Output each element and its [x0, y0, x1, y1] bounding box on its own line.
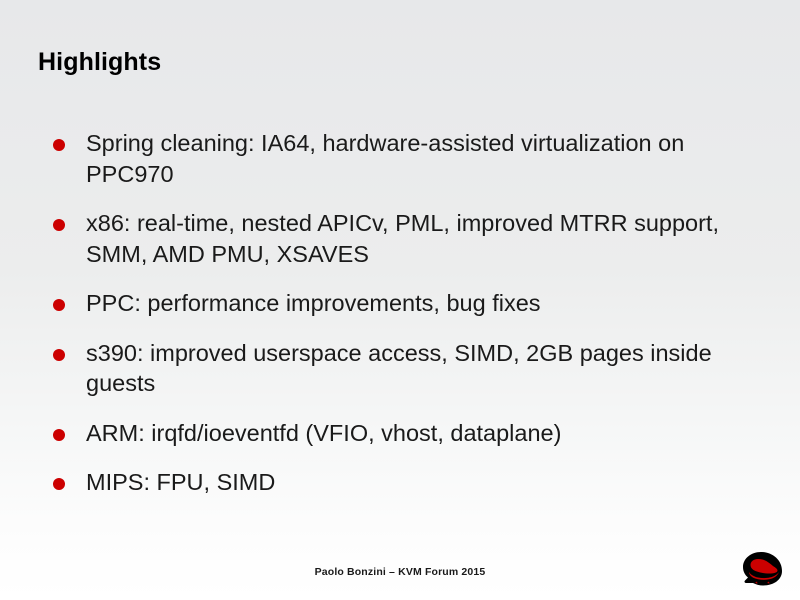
list-item: Spring cleaning: IA64, hardware-assisted…: [40, 128, 740, 189]
list-item: PPC: performance improvements, bug fixes: [40, 288, 740, 319]
list-item-label: x86: real-time, nested APICv, PML, impro…: [86, 208, 740, 269]
red-hat-shadowman-logo: [738, 550, 786, 592]
bullet-marker-icon: [53, 478, 65, 490]
list-item: x86: real-time, nested APICv, PML, impro…: [40, 208, 740, 269]
list-item: MIPS: FPU, SIMD: [40, 467, 740, 498]
list-item: s390: improved userspace access, SIMD, 2…: [40, 338, 740, 399]
bullet-marker-icon: [53, 219, 65, 231]
presentation-slide: Highlights Spring cleaning: IA64, hardwa…: [0, 0, 800, 600]
page-title: Highlights: [38, 48, 161, 77]
list-item-label: MIPS: FPU, SIMD: [86, 467, 740, 498]
list-item-label: Spring cleaning: IA64, hardware-assisted…: [86, 128, 740, 189]
bullet-marker-icon: [53, 139, 65, 151]
bullet-marker-icon: [53, 429, 65, 441]
list-item-label: s390: improved userspace access, SIMD, 2…: [86, 338, 740, 399]
list-item: ARM: irqfd/ioeventfd (VFIO, vhost, datap…: [40, 418, 740, 449]
list-item-label: ARM: irqfd/ioeventfd (VFIO, vhost, datap…: [86, 418, 740, 449]
slide-footer: Paolo Bonzini – KVM Forum 2015: [0, 566, 800, 578]
bullet-marker-icon: [53, 299, 65, 311]
bullet-marker-icon: [53, 349, 65, 361]
bullet-list: Spring cleaning: IA64, hardware-assisted…: [40, 128, 740, 498]
list-item-label: PPC: performance improvements, bug fixes: [86, 288, 740, 319]
